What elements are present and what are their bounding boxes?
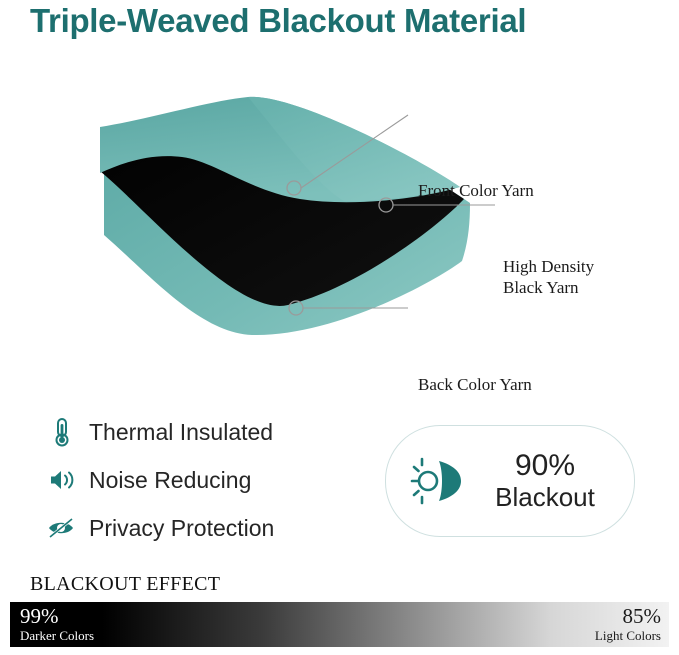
feature-row-noise: Noise Reducing <box>45 458 385 502</box>
blackout-label: Blackout <box>495 482 595 512</box>
thermometer-icon <box>45 417 79 447</box>
product-infographic: Triple-Weaved Blackout Material <box>0 0 679 655</box>
callout-label-high-density: High Density Black Yarn <box>503 256 594 298</box>
effect-right-readout: 85% Light Colors <box>595 604 661 644</box>
blackout-percent: 90% <box>515 449 575 482</box>
page-title: Triple-Weaved Blackout Material <box>30 2 655 40</box>
effect-left-caption: Darker Colors <box>20 628 94 644</box>
effect-left-percent: 99% <box>20 604 94 628</box>
fabric-layers-diagram: Front Color Yarn High Density Black Yarn… <box>0 75 679 360</box>
blackout-badge-text: 90% Blackout <box>470 450 634 512</box>
effect-left-readout: 99% Darker Colors <box>20 604 94 644</box>
callout-label-front: Front Color Yarn <box>418 180 534 201</box>
feature-row-thermal: Thermal Insulated <box>45 410 385 454</box>
effect-right-caption: Light Colors <box>595 628 661 644</box>
callout-label-back: Back Color Yarn <box>418 374 532 395</box>
feature-row-privacy: Privacy Protection <box>45 506 385 550</box>
sun-blocked-icon <box>406 455 470 507</box>
feature-list: Thermal Insulated Noise Reducing <box>45 410 385 554</box>
blackout-effect-bar <box>10 602 669 647</box>
blackout-badge: 90% Blackout <box>385 425 635 537</box>
effect-right-percent: 85% <box>595 604 661 628</box>
feature-label-noise: Noise Reducing <box>89 467 251 494</box>
blackout-effect-title: BLACKOUT EFFECT <box>30 573 220 596</box>
feature-label-thermal: Thermal Insulated <box>89 419 273 446</box>
speaker-mute-icon <box>45 467 79 493</box>
feature-label-privacy: Privacy Protection <box>89 515 274 542</box>
eye-slash-icon <box>45 516 79 540</box>
